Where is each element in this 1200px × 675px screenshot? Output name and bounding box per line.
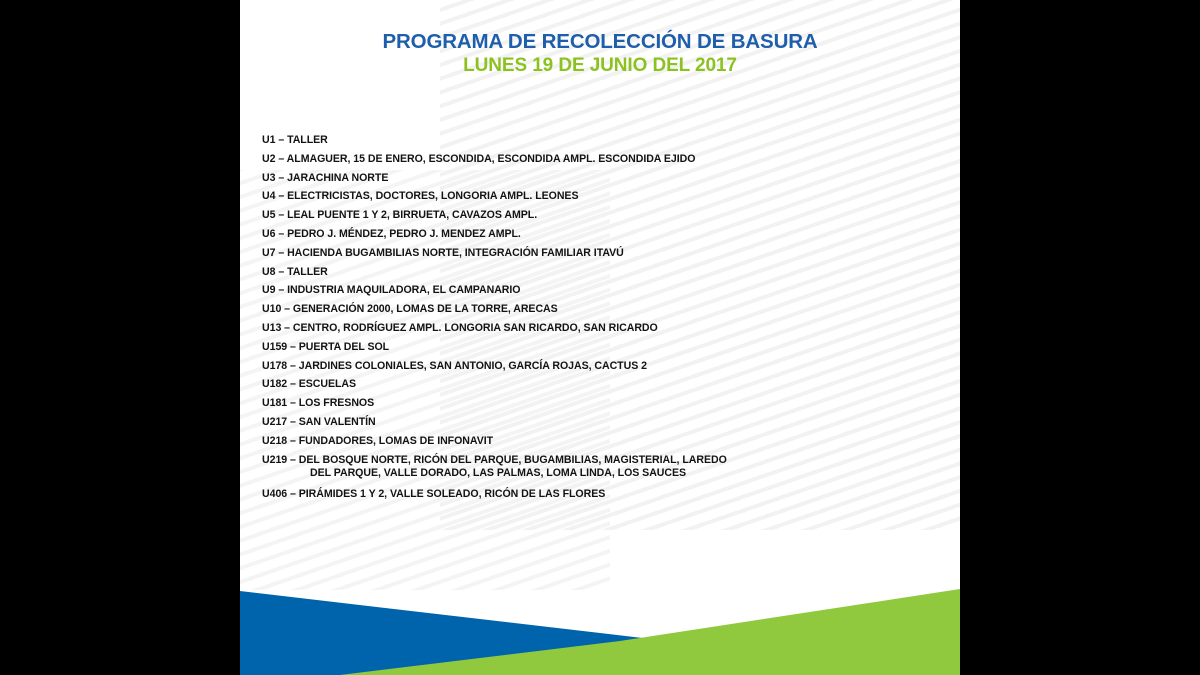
route-list-item: U218 – FUNDADORES, LOMAS DE INFONAVIT <box>262 432 952 451</box>
route-list-item-text: U3 – JARACHINA NORTE <box>262 172 388 184</box>
route-list-item: U13 – CENTRO, RODRÍGUEZ AMPL. LONGORIA S… <box>262 319 952 338</box>
route-list-item-text: U217 – SAN VALENTÍN <box>262 416 376 428</box>
route-list-item: U1 – TALLER <box>262 131 952 150</box>
bottom-wedges-decoration <box>240 585 960 675</box>
route-list-item-text: U219 – DEL BOSQUE NORTE, RICÓN DEL PARQU… <box>262 454 727 466</box>
route-list-item-text: U182 – ESCUELAS <box>262 378 356 390</box>
route-list-item: U159 – PUERTA DEL SOL <box>262 338 952 357</box>
route-list-item-text: U8 – TALLER <box>262 266 328 278</box>
route-list: U1 – TALLERU2 – ALMAGUER, 15 DE ENERO, E… <box>262 131 952 503</box>
route-list-item-text: U2 – ALMAGUER, 15 DE ENERO, ESCONDIDA, E… <box>262 153 695 165</box>
flyer-canvas: PROGRAMA DE RECOLECCIÓN DE BASURA LUNES … <box>240 0 960 675</box>
page-subtitle-date: LUNES 19 DE JUNIO DEL 2017 <box>240 54 960 77</box>
route-list-item: U4 – ELECTRICISTAS, DOCTORES, LONGORIA A… <box>262 187 952 206</box>
route-list-item-text: U1 – TALLER <box>262 134 328 146</box>
route-list-item-text: U4 – ELECTRICISTAS, DOCTORES, LONGORIA A… <box>262 190 578 202</box>
route-list-item: U10 – GENERACIÓN 2000, LOMAS DE LA TORRE… <box>262 300 952 319</box>
route-list-item-text: U178 – JARDINES COLONIALES, SAN ANTONIO,… <box>262 360 647 372</box>
route-list-item-text: U181 – LOS FRESNOS <box>262 397 374 409</box>
route-list-item-text: U10 – GENERACIÓN 2000, LOMAS DE LA TORRE… <box>262 303 558 315</box>
letterbox-bar-left <box>0 0 240 675</box>
letterbox-bar-right <box>960 0 1200 675</box>
poster-root: PROGRAMA DE RECOLECCIÓN DE BASURA LUNES … <box>0 0 1200 675</box>
page-title: PROGRAMA DE RECOLECCIÓN DE BASURA <box>240 30 960 54</box>
route-list-item: U9 – INDUSTRIA MAQUILADORA, EL CAMPANARI… <box>262 281 952 300</box>
route-list-item-text: U218 – FUNDADORES, LOMAS DE INFONAVIT <box>262 435 493 447</box>
route-list-item: U3 – JARACHINA NORTE <box>262 169 952 188</box>
route-list-item: U181 – LOS FRESNOS <box>262 394 952 413</box>
route-list-item-text: U13 – CENTRO, RODRÍGUEZ AMPL. LONGORIA S… <box>262 322 658 334</box>
route-list-item: U219 – DEL BOSQUE NORTE, RICÓN DEL PARQU… <box>262 451 952 485</box>
route-list-item-continuation: DEL PARQUE, VALLE DORADO, LAS PALMAS, LO… <box>262 467 952 481</box>
route-list-item-text: U5 – LEAL PUENTE 1 Y 2, BIRRUETA, CAVAZO… <box>262 209 537 221</box>
route-list-item: U217 – SAN VALENTÍN <box>262 413 952 432</box>
route-list-item: U182 – ESCUELAS <box>262 375 952 394</box>
route-list-item: U6 – PEDRO J. MÉNDEZ, PEDRO J. MENDEZ AM… <box>262 225 952 244</box>
route-list-item: U5 – LEAL PUENTE 1 Y 2, BIRRUETA, CAVAZO… <box>262 206 952 225</box>
flyer-header: PROGRAMA DE RECOLECCIÓN DE BASURA LUNES … <box>240 30 960 77</box>
route-list-item: U178 – JARDINES COLONIALES, SAN ANTONIO,… <box>262 357 952 376</box>
route-list-item: U406 – PIRÁMIDES 1 Y 2, VALLE SOLEADO, R… <box>262 485 952 504</box>
route-list-item: U7 – HACIENDA BUGAMBILIAS NORTE, INTEGRA… <box>262 244 952 263</box>
route-list-item: U8 – TALLER <box>262 263 952 282</box>
route-list-item-text: U6 – PEDRO J. MÉNDEZ, PEDRO J. MENDEZ AM… <box>262 228 521 240</box>
route-list-item-text: U406 – PIRÁMIDES 1 Y 2, VALLE SOLEADO, R… <box>262 488 605 500</box>
route-list-item-text: U159 – PUERTA DEL SOL <box>262 341 389 353</box>
route-list-item-text: U9 – INDUSTRIA MAQUILADORA, EL CAMPANARI… <box>262 284 521 296</box>
route-list-item: U2 – ALMAGUER, 15 DE ENERO, ESCONDIDA, E… <box>262 150 952 169</box>
route-list-item-text: U7 – HACIENDA BUGAMBILIAS NORTE, INTEGRA… <box>262 247 624 259</box>
